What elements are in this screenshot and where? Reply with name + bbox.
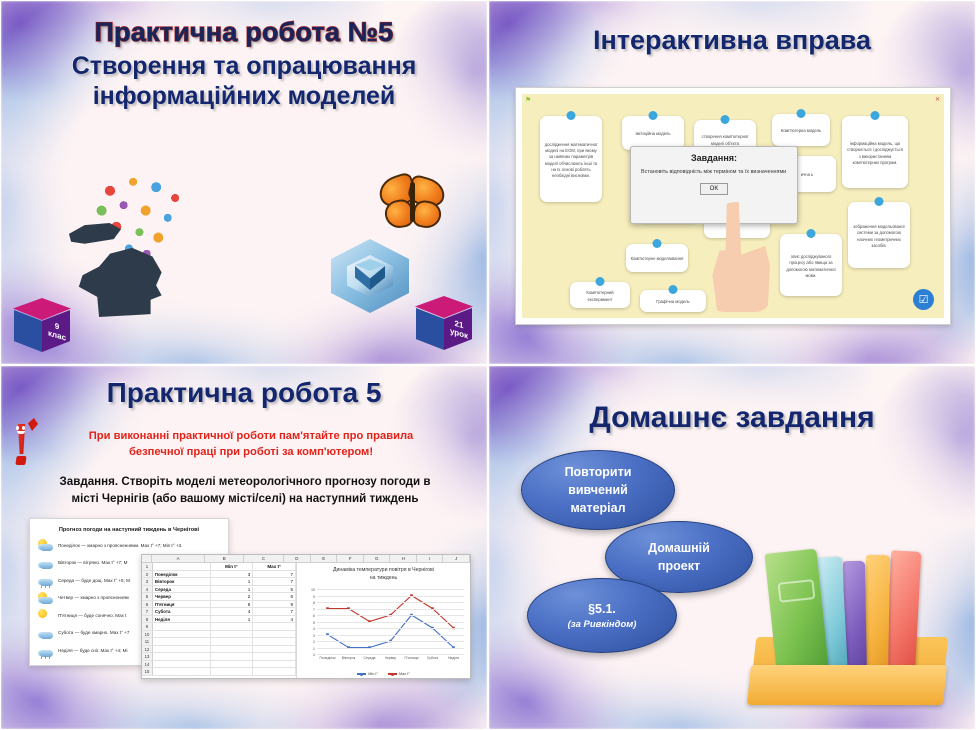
connector-dot-icon bbox=[669, 285, 678, 294]
row-header[interactable]: 11 bbox=[142, 638, 153, 645]
legend-item: Max t° bbox=[388, 672, 410, 676]
x-axis-tick: Червер bbox=[385, 656, 397, 660]
legend-label: Min t° bbox=[368, 672, 378, 676]
col-header-A[interactable]: A bbox=[152, 555, 205, 562]
cell-A13[interactable] bbox=[153, 653, 211, 660]
cell-C1[interactable]: Max t° bbox=[253, 563, 296, 570]
dialog-body: Встановіть відповідність між терміном та… bbox=[631, 163, 797, 177]
y-axis-tick: 0 bbox=[313, 653, 315, 657]
gridline: 0 bbox=[317, 654, 464, 655]
forecast-row: Понеділок — хмарно з проясненнями. Max t… bbox=[38, 539, 220, 551]
cell-B6[interactable]: 6 bbox=[211, 601, 254, 608]
learningapps-board[interactable]: ⚑ ✕ дослідження математичної моделі на Е… bbox=[515, 87, 951, 325]
row-header[interactable]: 3 bbox=[142, 578, 153, 585]
cell-A11[interactable] bbox=[153, 638, 211, 645]
table-row: 10 bbox=[142, 631, 296, 639]
gridline: 7 bbox=[317, 609, 464, 610]
forecast-text: Понеділок — хмарно з проясненнями. Max t… bbox=[58, 543, 182, 548]
slide-homework: Домашнє завдання Повторити вивчений мате… bbox=[488, 365, 976, 730]
lesson-cube-badge: 21 урок bbox=[415, 296, 473, 354]
list-item[interactable]: Комп'ютерна модель bbox=[772, 114, 830, 146]
table-row: 11 bbox=[142, 638, 296, 646]
cell-A15[interactable] bbox=[153, 668, 211, 675]
col-header-J[interactable]: J bbox=[443, 555, 470, 562]
list-item[interactable]: Комп'ютерний експеримент bbox=[570, 282, 630, 308]
connector-dot-icon bbox=[721, 115, 730, 124]
cell-B8[interactable]: 1 bbox=[211, 616, 254, 623]
slide-interactive-exercise: Інтерактивна вправа ⚑ ✕ дослідження мате… bbox=[488, 0, 976, 365]
cell-B9[interactable] bbox=[211, 623, 254, 630]
slide1-title-line2: Створення та опрацювання bbox=[1, 52, 487, 82]
x-axis-tick: Вівторок bbox=[342, 656, 355, 660]
connector-dot-icon bbox=[871, 111, 880, 120]
class-cube-badge: 9 клас bbox=[13, 298, 71, 356]
cell-B5[interactable]: 2 bbox=[211, 593, 254, 600]
cell-B4[interactable]: 1 bbox=[211, 586, 254, 593]
cell-A2[interactable]: Понеділок bbox=[153, 571, 211, 578]
col-header-H[interactable]: H bbox=[390, 555, 417, 562]
slide2-title: Інтерактивна вправа bbox=[489, 25, 975, 57]
table-row: 3Вівторок17 bbox=[142, 578, 296, 586]
cell-C14[interactable] bbox=[253, 661, 296, 668]
select-all-corner[interactable] bbox=[142, 555, 152, 562]
row-header[interactable]: 10 bbox=[142, 631, 153, 638]
col-header-I[interactable]: I bbox=[417, 555, 444, 562]
cell-B1[interactable]: Min t° bbox=[211, 563, 254, 570]
row-header[interactable]: 13 bbox=[142, 653, 153, 660]
cell-A1[interactable] bbox=[153, 563, 211, 570]
task-line-1: Завдання. Створіть моделі метеорологічно… bbox=[13, 474, 477, 491]
connector-dot-icon bbox=[567, 111, 576, 120]
table-row: 14 bbox=[142, 661, 296, 669]
card-text: Імітаційна модель bbox=[635, 131, 670, 137]
y-axis-tick: 4 bbox=[313, 627, 315, 631]
task-dialog[interactable]: Завдання: Встановіть відповідність між т… bbox=[630, 146, 798, 224]
connector-dot-icon bbox=[596, 277, 605, 286]
cell-A3[interactable]: Вівторок bbox=[153, 578, 211, 585]
x-axis-tick: Субота bbox=[427, 656, 438, 660]
y-axis-tick: 6 bbox=[313, 614, 315, 618]
forecast-text: Субота — буде хмарно. Max t° +7 bbox=[58, 630, 129, 635]
x-axis-tick: Середа bbox=[364, 656, 376, 660]
bubble-line-2: (за Ривкіндом) bbox=[568, 618, 637, 632]
row-header[interactable]: 7 bbox=[142, 608, 153, 615]
x-axis-tick: Неділя bbox=[448, 656, 459, 660]
y-axis-tick: 9 bbox=[313, 595, 315, 599]
row-header[interactable]: 2 bbox=[142, 571, 153, 578]
cell-A7[interactable]: Субота bbox=[153, 608, 211, 615]
connector-dot-icon bbox=[875, 197, 884, 206]
cell-C8[interactable]: 4 bbox=[253, 616, 296, 623]
connector-dot-icon bbox=[797, 109, 806, 118]
slides-grid: Практична робота №5 Створення та опрацюв… bbox=[0, 0, 976, 730]
cloud-icon bbox=[38, 627, 53, 639]
x-axis-tick: П'ятниця bbox=[404, 656, 418, 660]
row-header[interactable]: 15 bbox=[142, 668, 153, 675]
gridline: 6 bbox=[317, 615, 464, 616]
list-item[interactable]: Комп'ютерне моделювання bbox=[626, 244, 688, 272]
chart-title-line1: Динаміка температури повітря в Чернігові bbox=[300, 567, 467, 575]
temperature-chart[interactable]: Динаміка температури повітря в Чернігові… bbox=[297, 563, 470, 678]
table-row: 1Min t°Max t° bbox=[142, 563, 296, 571]
row-header[interactable]: 4 bbox=[142, 586, 153, 593]
legend-swatch-icon bbox=[388, 673, 397, 675]
gridline: 9 bbox=[317, 596, 464, 597]
gridline: 3 bbox=[317, 635, 464, 636]
cell-A6[interactable]: П'ятниця bbox=[153, 601, 211, 608]
cell-A12[interactable] bbox=[153, 646, 211, 653]
spreadsheet-rows: 1Min t°Max t°2Понеділок373Вівторок174Сер… bbox=[142, 563, 297, 678]
connector-dot-icon bbox=[649, 111, 658, 120]
cell-B11[interactable] bbox=[211, 638, 254, 645]
card-text: дослідження математичної моделі на ЕОМ, … bbox=[544, 142, 598, 180]
cell-B2[interactable]: 3 bbox=[211, 571, 254, 578]
cell-A4[interactable]: Середа bbox=[153, 586, 211, 593]
bubble-line-2: проект bbox=[658, 557, 700, 575]
slide3-title-wrap: Практична робота 5 bbox=[1, 376, 487, 409]
table-row: 5Червер26 bbox=[142, 593, 296, 601]
cell-C6[interactable]: 9 bbox=[253, 601, 296, 608]
x-axis-tick: Понеділок bbox=[319, 656, 335, 660]
cell-C12[interactable] bbox=[253, 646, 296, 653]
cell-A8[interactable]: Неділя bbox=[153, 616, 211, 623]
forecast-text: Середа — буде дощ. Max t° +5; M bbox=[58, 578, 130, 583]
card-text: опис досліджуваного процесу або явища за… bbox=[784, 254, 838, 279]
cloud-rain-icon bbox=[38, 574, 53, 586]
spreadsheet-window[interactable]: A B C D E F G H I J 1Min t°Max t°2Понеді… bbox=[141, 554, 471, 679]
cell-C5[interactable]: 6 bbox=[253, 593, 296, 600]
gridline: 4 bbox=[317, 628, 464, 629]
slide2-title-wrap: Інтерактивна вправа bbox=[489, 25, 975, 57]
list-item[interactable]: дослідження математичної моделі на ЕОМ, … bbox=[540, 116, 602, 202]
table-row: 7Субота47 bbox=[142, 608, 296, 616]
cell-B14[interactable] bbox=[211, 661, 254, 668]
cell-C4[interactable]: 5 bbox=[253, 586, 296, 593]
legend-item: Min t° bbox=[357, 672, 378, 676]
bubble-line-1: §5.1. bbox=[588, 600, 616, 618]
y-axis-tick: 10 bbox=[311, 588, 315, 592]
connector-dot-icon bbox=[653, 239, 662, 248]
table-row: 15 bbox=[142, 668, 296, 676]
cell-C13[interactable] bbox=[253, 653, 296, 660]
cell-C3[interactable]: 7 bbox=[253, 578, 296, 585]
bubble-line-2: вивчений bbox=[568, 481, 628, 499]
row-header[interactable]: 9 bbox=[142, 623, 153, 630]
card-text: Комп'ютерна модель bbox=[781, 128, 821, 134]
table-row: 13 bbox=[142, 653, 296, 661]
table-row: 12 bbox=[142, 646, 296, 654]
gridline: 10 bbox=[317, 589, 464, 590]
col-header-C[interactable]: C bbox=[244, 555, 283, 562]
dialog-title: Завдання: bbox=[631, 153, 797, 163]
chart-legend: Min t°Max t° bbox=[297, 672, 470, 676]
slide1-title: Практична робота №5 Створення та опрацюв… bbox=[1, 17, 487, 111]
bubble-line-1: Повторити bbox=[565, 463, 632, 481]
table-row: 4Середа15 bbox=[142, 586, 296, 594]
bubble-line-1: Домашній bbox=[648, 539, 710, 557]
butterfly-icon bbox=[379, 176, 449, 232]
cell-B13[interactable] bbox=[211, 653, 254, 660]
chart-line-Min t° bbox=[328, 615, 454, 648]
list-item[interactable]: Імітаційна модель bbox=[622, 116, 684, 150]
y-axis-tick: 5 bbox=[313, 621, 315, 625]
task-line-2: місті Чернігів (або вашому місті/селі) н… bbox=[13, 491, 477, 508]
cell-B7[interactable]: 4 bbox=[211, 608, 254, 615]
row-header[interactable]: 5 bbox=[142, 593, 153, 600]
col-header-D[interactable]: D bbox=[284, 555, 311, 562]
warning-line-2: безпечної праці при роботі за комп'ютеро… bbox=[31, 444, 471, 460]
column-headers: A B C D E F G H I J bbox=[142, 555, 470, 563]
row-header[interactable]: 6 bbox=[142, 601, 153, 608]
col-header-G[interactable]: G bbox=[364, 555, 391, 562]
list-item[interactable]: Графічна модель bbox=[640, 290, 706, 312]
chart-title-line2: на тиждень bbox=[300, 575, 467, 583]
slide4-title: Домашнє завдання bbox=[489, 400, 975, 435]
sun-icon bbox=[38, 609, 53, 621]
cell-B10[interactable] bbox=[211, 631, 254, 638]
cell-C15[interactable] bbox=[253, 668, 296, 675]
chart-line-Max t° bbox=[328, 596, 454, 629]
homework-bubble-paragraph[interactable]: §5.1. (за Ривкіндом) bbox=[527, 578, 677, 653]
y-axis-tick: 7 bbox=[313, 608, 315, 612]
card-text: ична ь bbox=[801, 172, 814, 178]
cell-C11[interactable] bbox=[253, 638, 296, 645]
ok-button[interactable]: OK bbox=[700, 183, 729, 195]
list-item[interactable]: опис досліджуваного процесу або явища за… bbox=[780, 234, 842, 296]
table-row: 9 bbox=[142, 623, 296, 631]
gridline: 1 bbox=[317, 648, 464, 649]
homework-bubble-repeat[interactable]: Повторити вивчений матеріал bbox=[521, 450, 675, 530]
chart-plot-area: 012345678910ПонеділокВівторокСередаЧерве… bbox=[317, 589, 464, 654]
thinking-head-illustration bbox=[69, 171, 214, 321]
cell-C2[interactable]: 7 bbox=[253, 571, 296, 578]
card-text: зображення модельованої системи за допом… bbox=[852, 224, 906, 249]
close-icon[interactable]: ✕ bbox=[935, 96, 940, 103]
connector-dot-icon bbox=[807, 229, 816, 238]
row-header[interactable]: 8 bbox=[142, 616, 153, 623]
cell-A5[interactable]: Червер bbox=[153, 593, 211, 600]
forecast-text: Неділя — буде сніг. Max t° +4; Mi bbox=[58, 648, 127, 653]
y-axis-tick: 8 bbox=[313, 601, 315, 605]
list-item[interactable]: зображення модельованої системи за допом… bbox=[848, 202, 910, 268]
check-answer-button[interactable]: ☑ bbox=[913, 289, 934, 310]
cell-C7[interactable]: 7 bbox=[253, 608, 296, 615]
forecast-text: Четвер — хмарно з проясненням bbox=[58, 595, 129, 600]
col-header-E[interactable]: E bbox=[311, 555, 338, 562]
y-axis-tick: 3 bbox=[313, 634, 315, 638]
card-text: створення комп'ютерної моделі об'єкта bbox=[698, 134, 752, 147]
flag-icon: ⚑ bbox=[525, 96, 531, 104]
cell-A14[interactable] bbox=[153, 661, 211, 668]
slide-practical-work-title: Практична робота №5 Створення та опрацюв… bbox=[0, 0, 488, 365]
card-text: інформаційна модель, що створюється і до… bbox=[846, 141, 904, 166]
slide1-title-line3: інформаційних моделей bbox=[1, 82, 487, 112]
bubble-line-3: матеріал bbox=[570, 499, 625, 517]
cell-C9[interactable] bbox=[253, 623, 296, 630]
cell-C10[interactable] bbox=[253, 631, 296, 638]
forecast-text: Вівторок — вітряно. Max t° +7; M bbox=[58, 560, 127, 565]
cell-B15[interactable] bbox=[211, 668, 254, 675]
heart-of-icons-icon bbox=[89, 171, 194, 261]
legend-label: Max t° bbox=[399, 672, 410, 676]
slide4-title-wrap: Домашнє завдання bbox=[489, 400, 975, 435]
card-text: Комп'ютерне моделювання bbox=[631, 256, 684, 262]
cell-A9[interactable] bbox=[153, 623, 211, 630]
cloud-wind-icon bbox=[38, 557, 53, 569]
y-axis-tick: 1 bbox=[313, 647, 315, 651]
table-row: 6П'ятниця69 bbox=[142, 601, 296, 609]
warning-line-1: При виконанні практичної роботи пам'ятай… bbox=[31, 428, 471, 444]
forecast-text: П'ятниця — буде сонячно. Max t bbox=[58, 613, 127, 618]
safety-warning: При виконанні практичної роботи пам'ятай… bbox=[31, 428, 471, 460]
table-row: 8Неділя14 bbox=[142, 616, 296, 624]
hex-cube-icon bbox=[331, 239, 409, 313]
chart-title: Динаміка температури повітря в Чернігові… bbox=[300, 567, 467, 583]
row-header[interactable]: 1 bbox=[142, 563, 153, 570]
cell-B3[interactable]: 1 bbox=[211, 578, 254, 585]
card-text: Комп'ютерний експеримент bbox=[574, 290, 626, 303]
cell-A10[interactable] bbox=[153, 631, 211, 638]
table-row: 2Понеділок37 bbox=[142, 571, 296, 579]
slide1-title-line1: Практична робота №5 bbox=[1, 17, 487, 48]
gridline: 8 bbox=[317, 602, 464, 603]
legend-swatch-icon bbox=[357, 673, 366, 675]
row-header[interactable]: 12 bbox=[142, 646, 153, 653]
y-axis-tick: 2 bbox=[313, 640, 315, 644]
gridline: 2 bbox=[317, 641, 464, 642]
slide3-title: Практична робота 5 bbox=[1, 376, 487, 409]
forecast-title: Прогноз погоди на наступний тиждень в Че… bbox=[38, 527, 220, 533]
books-in-tray-icon bbox=[749, 525, 949, 705]
gridline: 5 bbox=[317, 622, 464, 623]
cloud-snow-icon bbox=[38, 645, 53, 657]
row-header[interactable]: 14 bbox=[142, 661, 153, 668]
col-header-F[interactable]: F bbox=[337, 555, 364, 562]
cell-B12[interactable] bbox=[211, 646, 254, 653]
task-description: Завдання. Створіть моделі метеорологічно… bbox=[13, 474, 477, 508]
slide-practical-task: Практична робота 5 При виконанні практич… bbox=[0, 365, 488, 730]
card-text: Графічна модель bbox=[656, 299, 689, 305]
col-header-B[interactable]: B bbox=[205, 555, 244, 562]
list-item[interactable]: інформаційна модель, що створюється і до… bbox=[842, 116, 908, 188]
sun-cloud-icon bbox=[38, 592, 53, 604]
sun-cloud-icon bbox=[38, 539, 53, 551]
